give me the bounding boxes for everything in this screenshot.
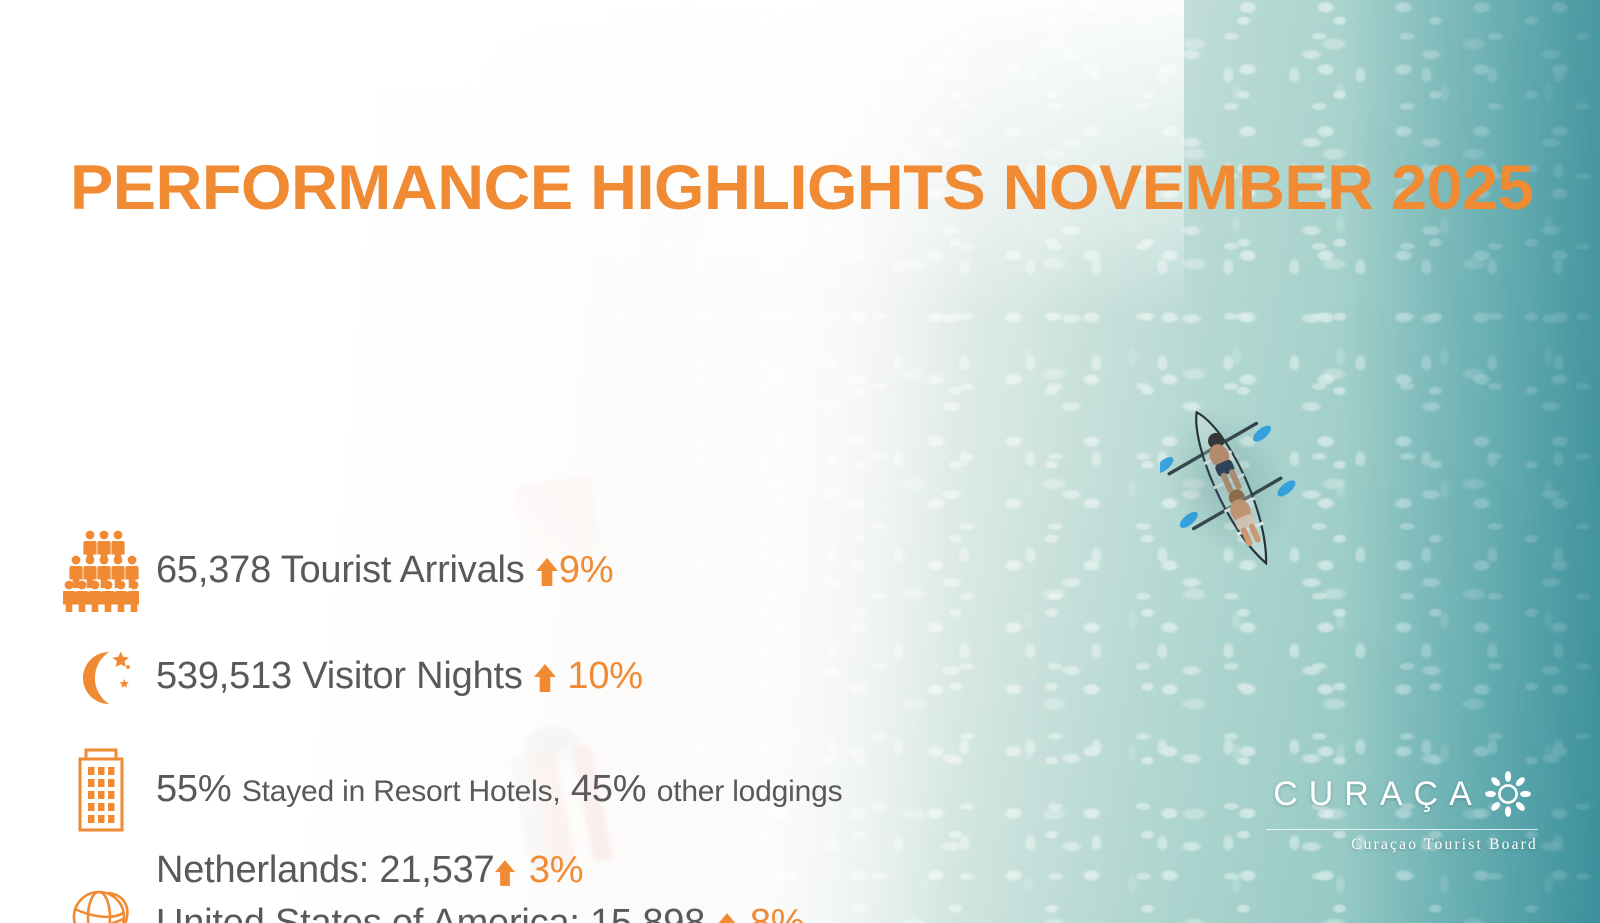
markets-line-list: Netherlands: 21,537 3% United States of …	[156, 846, 804, 923]
logo-tagline: Curaçao Tourist Board	[1266, 836, 1538, 854]
curacao-tourist-board-logo: CURAÇA	[1266, 768, 1538, 854]
stat-row-arrivals: 65,378 Tourist Arrivals 9%	[46, 528, 613, 612]
market-country: Netherlands:	[156, 849, 369, 891]
lodging-resort-label: Stayed in Resort Hotels,	[242, 775, 561, 808]
market-country: United States of America:	[156, 902, 580, 923]
logo-divider	[1266, 829, 1538, 830]
market-row: United States of America: 15,898 8%	[156, 899, 804, 923]
arrivals-value: 65,378	[156, 549, 271, 591]
lodging-other-label: other lodgings	[657, 775, 843, 808]
logo-wordmark: CURAÇA	[1266, 768, 1538, 820]
page-title: PERFORMANCE HIGHLIGHTS NOVEMBER 2025	[70, 152, 1574, 224]
lodging-resort-share: 55%	[156, 768, 231, 810]
market-trend: 3%	[529, 849, 584, 891]
trend-up-arrow-icon	[535, 554, 559, 584]
trend-up-arrow-icon	[533, 660, 557, 690]
trend-up-arrow-icon	[716, 904, 740, 923]
hotel-building-icon	[46, 746, 156, 832]
stat-row-markets: Netherlands: 21,537 3% United States of …	[46, 846, 804, 923]
globe-icon	[46, 883, 156, 923]
lodging-other-share: 45%	[571, 768, 646, 810]
market-value: 21,537	[379, 849, 494, 891]
nights-trend: 10%	[567, 655, 642, 697]
stat-nights-text: 539,513 Visitor Nights 10%	[156, 655, 643, 698]
stat-lodging-text: 55% Stayed in Resort Hotels, 45% other l…	[156, 768, 842, 811]
stat-arrivals-text: 65,378 Tourist Arrivals 9%	[156, 549, 613, 592]
stat-row-nights: 539,513 Visitor Nights 10%	[46, 640, 643, 712]
market-trend: 8%	[750, 902, 805, 923]
stat-row-lodging: 55% Stayed in Resort Hotels, 45% other l…	[46, 746, 842, 832]
nights-label: Visitor Nights	[302, 655, 522, 697]
market-row: Netherlands: 21,537 3%	[156, 846, 804, 895]
arrivals-trend: 9%	[559, 549, 614, 591]
slide-canvas: PERFORMANCE HIGHLIGHTS NOVEMBER 2025	[0, 0, 1600, 923]
people-group-icon	[46, 528, 156, 612]
market-value: 15,898	[590, 902, 705, 923]
moon-stars-icon	[46, 640, 156, 712]
nights-value: 539,513	[156, 655, 292, 697]
trend-up-arrow-icon	[494, 851, 518, 881]
arrivals-label: Tourist Arrivals	[281, 549, 525, 591]
logo-wordmark-text: CURAÇA	[1273, 775, 1483, 814]
sun-rays-icon	[1485, 771, 1531, 817]
